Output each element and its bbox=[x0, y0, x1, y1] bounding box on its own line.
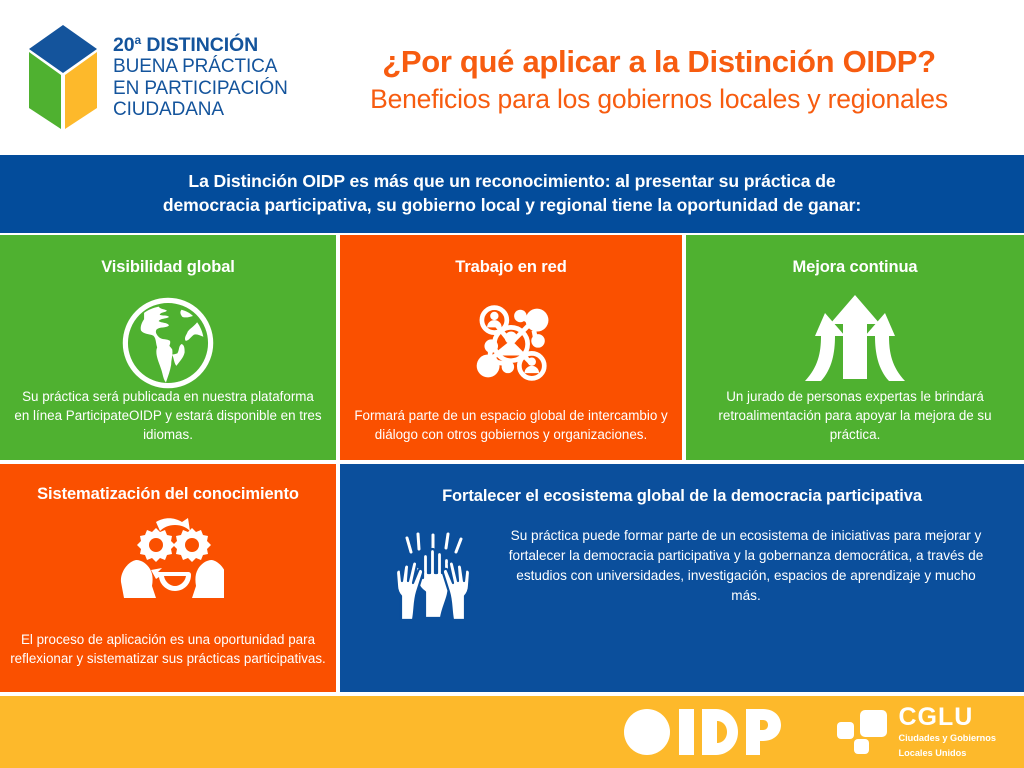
page-title: ¿Por qué aplicar a la Distinción OIDP? bbox=[308, 43, 1010, 80]
banner-line-1: La Distinción OIDP es más que un reconoc… bbox=[188, 170, 835, 194]
card-title: Trabajo en red bbox=[354, 257, 668, 277]
intro-banner: La Distinción OIDP es más que un reconoc… bbox=[0, 155, 1024, 233]
banner-line-2: democracia participativa, su gobierno lo… bbox=[163, 194, 861, 218]
oidp-distincion-cube-logo bbox=[26, 23, 100, 133]
network-people-icon bbox=[459, 291, 563, 395]
card-title: Fortalecer el ecosistema global de la de… bbox=[358, 486, 1006, 506]
benefits-grid: Visibilidad global Su práctica será publ… bbox=[0, 235, 1024, 692]
card-body: Un jurado de personas expertas le brinda… bbox=[700, 387, 1010, 444]
brand-line-4: CIUDADANA bbox=[113, 99, 288, 121]
brand-edition-number: 20 bbox=[113, 34, 135, 56]
brand-lockup: 20a DISTINCIÓN BUENA PRÁCTICA EN PARTICI… bbox=[26, 23, 308, 133]
cglu-logo: CGLU Ciudades y Gobiernos Locales Unidos bbox=[835, 705, 996, 758]
raised-hands-icon bbox=[387, 532, 479, 624]
benefit-card-sistematizacion-del-conocimiento: Sistematización del conocimiento El proc… bbox=[0, 464, 336, 692]
benefit-card-visibilidad-global: Visibilidad global Su práctica será publ… bbox=[0, 235, 336, 460]
three-up-arrows-icon bbox=[799, 291, 911, 393]
brand-line-1: 20a DISTINCIÓN bbox=[113, 34, 288, 56]
card-body: Su práctica puede formar parte de un eco… bbox=[508, 526, 1006, 605]
footer: CGLU Ciudades y Gobiernos Locales Unidos bbox=[0, 696, 1024, 768]
card-icon-wrap bbox=[358, 526, 508, 624]
benefit-card-fortalecer-ecosistema: Fortalecer el ecosistema global de la de… bbox=[340, 464, 1024, 692]
card-title: Mejora continua bbox=[700, 257, 1010, 277]
globe-icon bbox=[116, 291, 220, 395]
title-block: ¿Por qué aplicar a la Distinción OIDP? B… bbox=[308, 43, 1024, 116]
benefit-card-mejora-continua: Mejora continua Un jurado de personas ex… bbox=[686, 235, 1024, 460]
oidp-wordmark-logo bbox=[623, 709, 799, 755]
cglu-wordmark: CGLU bbox=[898, 705, 996, 730]
cglu-mark-icon bbox=[835, 709, 889, 755]
footer-logos: CGLU Ciudades y Gobiernos Locales Unidos bbox=[623, 705, 996, 758]
brand-line-2: BUENA PRÁCTICA bbox=[113, 56, 288, 78]
card-title: Visibilidad global bbox=[14, 257, 322, 277]
brand-line-3: EN PARTICIPACIÓN bbox=[113, 78, 288, 100]
brand-edition-word: DISTINCIÓN bbox=[141, 34, 258, 56]
card-content-row: Su práctica puede formar parte de un eco… bbox=[358, 526, 1006, 624]
card-body: El proceso de aplicación es una oportuni… bbox=[8, 630, 328, 668]
card-title: Sistematización del conocimiento bbox=[10, 484, 326, 504]
benefit-card-trabajo-en-red: Trabajo en red bbox=[340, 235, 682, 460]
cglu-tagline-line-2: Locales Unidos bbox=[898, 748, 996, 759]
header: 20a DISTINCIÓN BUENA PRÁCTICA EN PARTICI… bbox=[0, 0, 1024, 155]
page-subtitle: Beneficios para los gobiernos locales y … bbox=[308, 83, 1010, 116]
cglu-tagline-line-1: Ciudades y Gobiernos bbox=[898, 733, 996, 744]
brand-text: 20a DISTINCIÓN BUENA PRÁCTICA EN PARTICI… bbox=[113, 34, 288, 121]
card-body: Su práctica será publicada en nuestra pl… bbox=[14, 387, 322, 444]
card-body: Formará parte de un espacio global de in… bbox=[354, 406, 668, 444]
cglu-text: CGLU Ciudades y Gobiernos Locales Unidos bbox=[898, 705, 996, 758]
heads-gears-icon bbox=[112, 514, 224, 610]
infographic-page: 20a DISTINCIÓN BUENA PRÁCTICA EN PARTICI… bbox=[0, 0, 1024, 768]
